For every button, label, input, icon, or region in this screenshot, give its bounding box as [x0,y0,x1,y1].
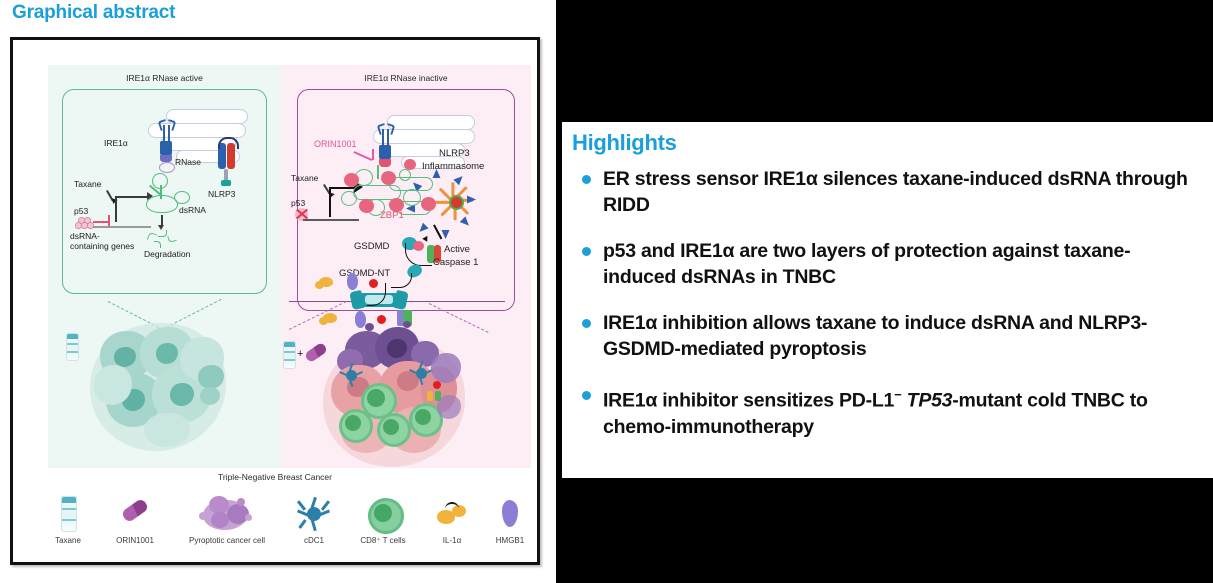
label-p53-left: p53 [74,206,88,216]
bullet-icon [582,319,591,328]
pill-icon-right [304,342,328,364]
highlight-text-italic: TP53 [907,390,953,412]
bullet-icon [582,175,591,184]
legend-label: CD8⁺ T cells [339,536,427,545]
panel-left-title: IRE1α RNase active [48,73,281,83]
legend-label: Pyroptotic cancer cell [167,536,287,545]
bullet-icon [582,247,591,256]
label-ire1a-left: IRE1α [104,138,128,148]
gene-promoter-vert [115,196,117,222]
label-inflammasome-right-line2: Inflammasome [422,162,484,172]
highlight-text: IRE1α inhibition allows taxane to induce… [603,312,1147,360]
highlight-text: p53 and IRE1α are two layers of protecti… [603,240,1130,288]
vial-icon [35,492,101,536]
page-root: Graphical abstract IRE1α RNase active [0,0,1213,583]
label-orin1001: ORIN1001 [314,139,357,149]
label-active-caspase1-line2: Caspase 1 [433,258,478,268]
legend-item-il1a: IL-1α [421,492,483,545]
panel-right-title: IRE1α RNase inactive [281,73,531,83]
dendritic-cell-in-tumor-2 [409,361,433,385]
label-rnase-left: RNase [175,157,201,167]
legend-label: IL18 [535,536,540,545]
gene-promoter-horiz [115,196,148,198]
legend-item-hmgb1: HMGB1 [479,492,540,545]
legend-item-pyroptotic-cell: Pyroptotic cancer cell [167,492,287,545]
label-nlrp3-right-line1: NLRP3 [439,149,470,159]
pill-icon [99,492,171,536]
label-degradation: Degradation [144,249,190,259]
highlight-item-1: ER stress sensor IRE1α silences taxane-i… [572,166,1200,218]
dendritic-cell-icon [285,492,343,536]
hmgb1-icon [479,492,540,536]
highlight-text: ER stress sensor IRE1α silences taxane-i… [603,168,1188,216]
legend-item-cdc1: cDC1 [285,492,343,545]
highlights-title: Highlights [572,130,677,156]
gene-body-line-right [303,219,359,221]
legend-row: Taxane ORIN1001 Pyroptotic can [35,492,521,562]
legend-label: IL-1α [421,536,483,545]
vial-icon-right [283,341,296,369]
dendritic-cell-in-tumor-1 [339,363,363,387]
nlrp3-inflammasome-wheel [431,177,477,223]
highlight-item-3: IRE1α inhibition allows taxane to induce… [572,310,1200,362]
graphical-abstract-title: Graphical abstract [12,2,175,24]
highlights-list: ER stress sensor IRE1α silences taxane-i… [572,166,1200,460]
label-zbp1: ZBP1 [380,211,404,221]
il1a-icon [421,492,483,536]
legend-item-taxane: Taxane [35,492,101,545]
gene-body-line [93,226,151,228]
highlight-item-2: p53 and IRE1α are two layers of protecti… [572,238,1200,290]
gene-promoter-arrowhead [147,192,153,200]
label-dsrna-left: dsRNA [179,205,206,215]
label-nlrp3-left: NLRP3 [208,189,235,199]
legend-label: ORIN1001 [99,536,171,545]
bullet-icon [582,391,591,400]
t-cell-icon [339,492,427,536]
label-taxane-left: Taxane [74,179,101,189]
pyroptotic-cell-icon [167,492,287,536]
label-gsdmd: GSDMD [354,242,389,252]
label-dsrna-genes-line1: dsRNA- [70,231,100,241]
diagram-panels: IRE1α RNase active [48,65,531,468]
gene-promoter-vert-right [329,187,331,217]
legend-label: HMGB1 [479,536,540,545]
highlights-card: Highlights ER stress sensor IRE1α silenc… [562,122,1213,478]
legend-item-cd8-t-cells: CD8⁺ T cells [339,492,427,545]
label-dsrna-genes-line2: containing genes [70,241,134,251]
panel-ire1a-inactive: IRE1α RNase inactive [281,65,531,468]
label-active-caspase1-line1: Active [444,245,470,255]
highlight-superscript: − [894,387,901,402]
legend-label: Taxane [35,536,101,545]
legend-item-orin1001: ORIN1001 [99,492,171,545]
vial-icon-left [66,333,79,361]
highlight-item-4: IRE1α inhibitor sensitizes PD-L1− TP53-m… [572,382,1200,440]
tnbc-caption: Triple-Negative Breast Cancer [13,472,537,482]
legend-label: cDC1 [285,536,343,545]
label-taxane-right: Taxane [291,173,318,183]
p53-inhibition-line [93,221,109,223]
legend-item-il18: IL18 [535,492,540,545]
il18-icon [535,492,540,536]
graphical-abstract-figure: IRE1α RNase active [10,37,540,565]
gene-promoter-horiz-right [329,187,355,189]
panel-ire1a-active: IRE1α RNase active [48,65,281,468]
label-p53-right: p53 [291,198,305,208]
plus-sign: + [297,349,303,359]
highlight-text-pre: IRE1α inhibitor sensitizes PD-L1 [603,390,894,412]
